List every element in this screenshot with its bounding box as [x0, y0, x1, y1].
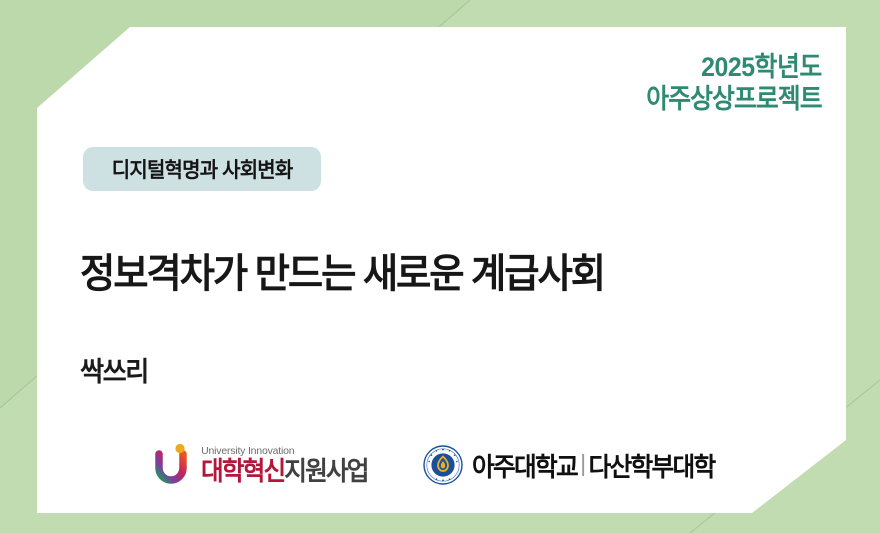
- ui-logo-text: University Innovation 대학혁신지원사업: [201, 446, 376, 485]
- ajou-university-logo: 아주대학교 다산학부대학: [423, 445, 727, 485]
- page-title: 정보격차가 만드는 새로운 계급사회: [80, 252, 604, 296]
- ajou-logo-text: 아주대학교 다산학부대학: [472, 447, 715, 484]
- ui-logo-korean-gray: 지원사업: [284, 456, 367, 486]
- ui-logo-korean-red: 대학혁신: [201, 456, 284, 486]
- ajou-college-name: 다산학부대학: [588, 447, 714, 484]
- project-tag-name: 아주상상프로젝트: [647, 84, 822, 116]
- ui-gradient-mark-icon: [153, 443, 193, 487]
- category-badge-label: 디지털혁명과 사회변화: [112, 154, 293, 184]
- presentation-title-slide: 2025학년도 아주상상프로젝트 디지털혁명과 사회변화 정보격차가 만드는 새…: [0, 0, 880, 533]
- ui-logo-korean: 대학혁신지원사업: [201, 458, 368, 484]
- ajou-logo-divider: [581, 454, 583, 476]
- ui-logo-english: University Innovation: [201, 446, 376, 457]
- footer-logos: University Innovation 대학혁신지원사업: [0, 443, 880, 487]
- project-tag-year: 2025학년도: [647, 52, 822, 84]
- category-badge: 디지털혁명과 사회변화: [83, 147, 321, 191]
- project-tag: 2025학년도 아주상상프로젝트: [647, 52, 822, 116]
- ajou-university-name: 아주대학교: [472, 447, 577, 484]
- university-innovation-logo: University Innovation 대학혁신지원사업: [153, 443, 376, 487]
- ajou-university-seal-icon: [423, 445, 463, 485]
- team-name: 싹쓰리: [80, 350, 148, 389]
